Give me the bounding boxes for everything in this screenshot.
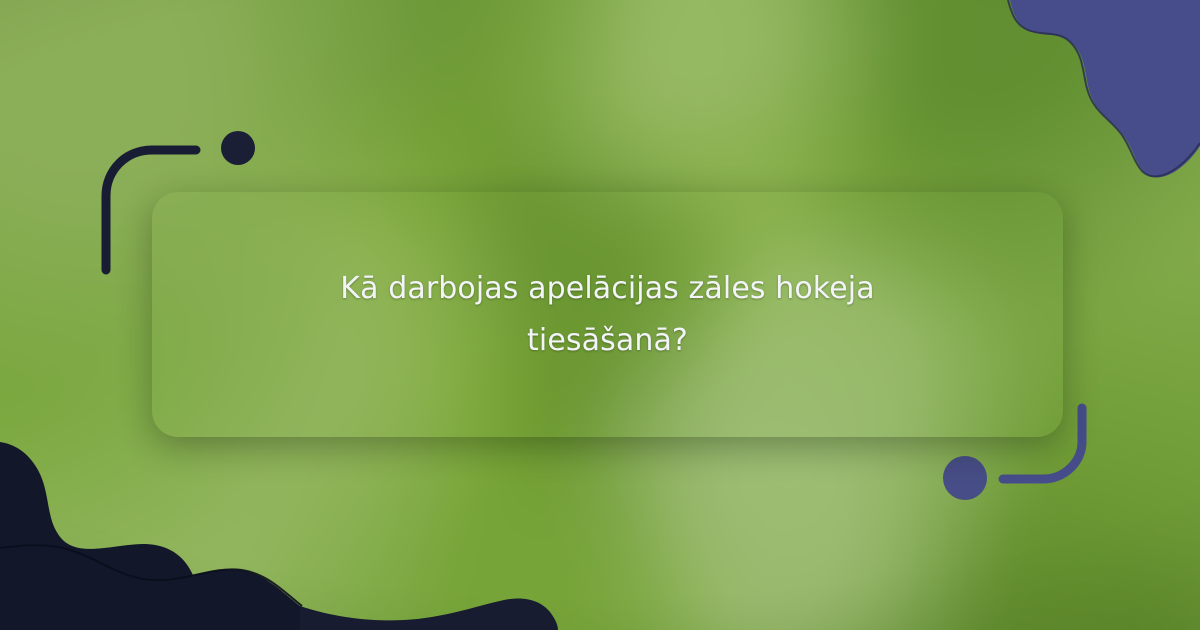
blob-bottom-left-tail xyxy=(300,599,558,630)
dot-top-left xyxy=(221,131,255,165)
dot-bottom-right xyxy=(943,456,987,500)
blob-top-right xyxy=(1010,0,1200,177)
share-card-canvas: Kā darbojas apelācijas zāles hokeja ties… xyxy=(0,0,1200,630)
question-card: Kā darbojas apelācijas zāles hokeja ties… xyxy=(152,192,1063,437)
question-card-content: Kā darbojas apelācijas zāles hokeja ties… xyxy=(258,263,958,367)
question-title: Kā darbojas apelācijas zāles hokeja ties… xyxy=(258,263,958,367)
